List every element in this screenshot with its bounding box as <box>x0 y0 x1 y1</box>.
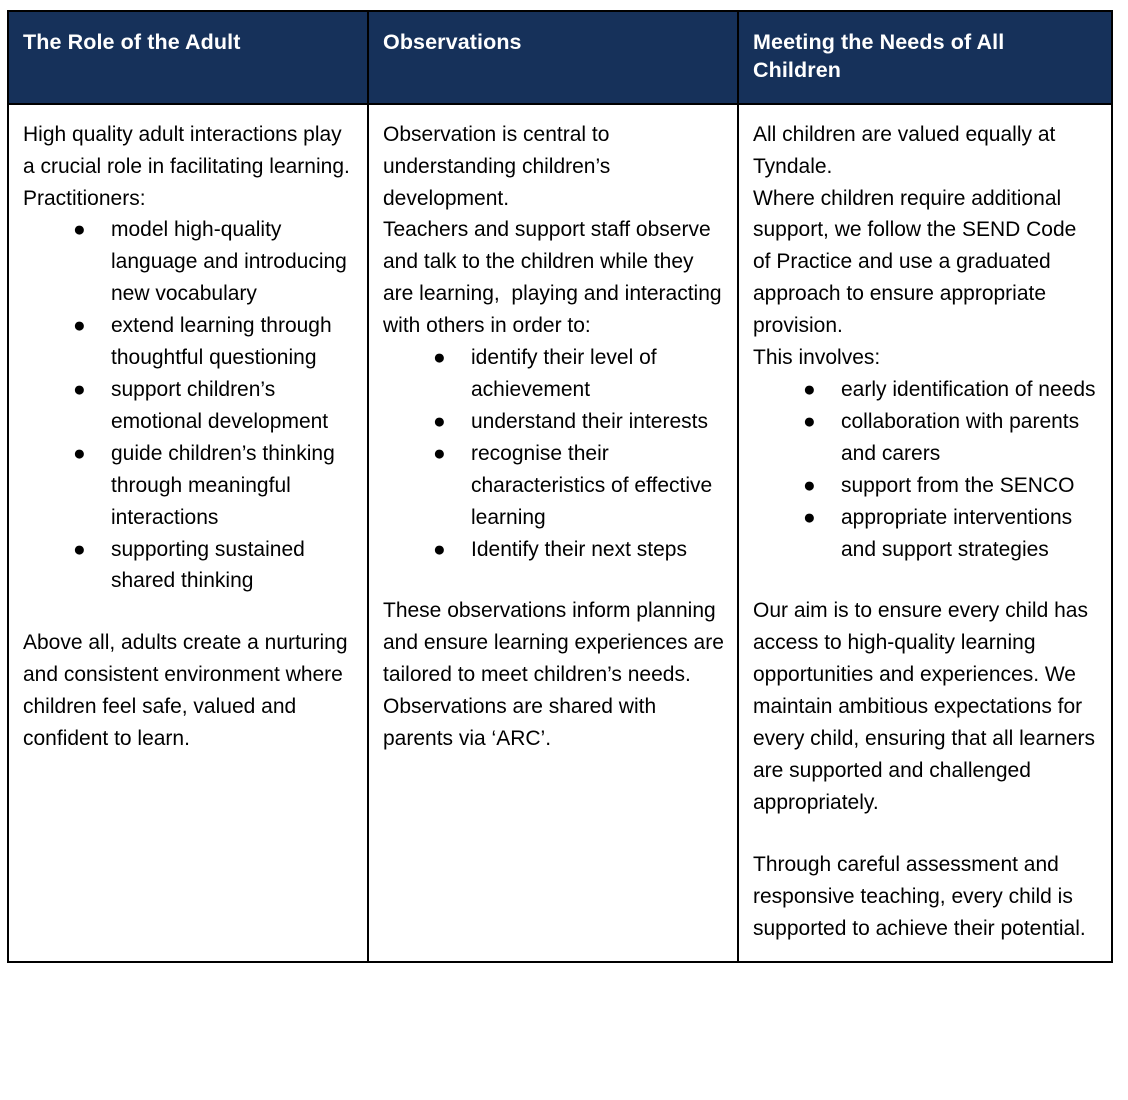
column-header-role-of-the-adult: The Role of the Adult <box>8 11 368 104</box>
list-item: ●recognise their characteristics of effe… <box>383 438 725 534</box>
list-item-label: extend learning through thoughtful quest… <box>111 314 332 369</box>
list-item-label: understand their interests <box>471 410 708 433</box>
cell-meeting-the-needs: All children are valued equally at Tynda… <box>738 104 1112 962</box>
bullet-dot-icon: ● <box>73 374 85 406</box>
paragraph-spacer <box>753 819 1099 849</box>
bullet-dot-icon: ● <box>73 214 85 246</box>
outro-paragraph-col1: Above all, adults create a nurturing and… <box>23 627 355 755</box>
list-item-label: recognise their characteristics of effec… <box>471 442 712 529</box>
list-item: ●understand their interests <box>383 406 725 438</box>
bullet-dot-icon: ● <box>73 534 85 566</box>
outro-paragraph-col3: Our aim is to ensure every child has acc… <box>753 595 1099 818</box>
cell-observations: Observation is central to understanding … <box>368 104 738 962</box>
table-header-row-group: The Role of the Adult Observations Meeti… <box>8 11 1112 104</box>
list-item: ●model high-quality language and introdu… <box>23 214 355 310</box>
intro-paragraph-col2: Observation is central to understanding … <box>383 119 725 342</box>
list-item: ●support children’s emotional developmen… <box>23 374 355 438</box>
column-header-observations: Observations <box>368 11 738 104</box>
column-header-meeting-the-needs: Meeting the Needs of All Children <box>738 11 1112 104</box>
list-item: ●guide children’s thinking through meani… <box>23 438 355 534</box>
bullet-dot-icon: ● <box>433 342 445 374</box>
list-item-label: identify their level of achievement <box>471 346 657 401</box>
bullet-list-col3: ●early identification of needs ●collabor… <box>753 374 1099 565</box>
list-item: ●collaboration with parents and carers <box>753 406 1099 470</box>
bullet-dot-icon: ● <box>433 534 445 566</box>
bullet-dot-icon: ● <box>73 310 85 342</box>
list-item-label: model high-quality language and introduc… <box>111 218 347 305</box>
paragraph-spacer <box>383 565 725 595</box>
list-item: ●extend learning through thoughtful ques… <box>23 310 355 374</box>
table-header-row: The Role of the Adult Observations Meeti… <box>8 11 1112 104</box>
bullet-dot-icon: ● <box>803 502 815 534</box>
bullet-dot-icon: ● <box>433 406 445 438</box>
list-item: ●Identify their next steps <box>383 534 725 566</box>
outro-paragraph-col2: These observations inform planning and e… <box>383 595 725 755</box>
list-item-label: supporting sustained shared thinking <box>111 538 305 593</box>
list-item-label: guide children’s thinking through meanin… <box>111 442 335 529</box>
bullet-list-col1: ●model high-quality language and introdu… <box>23 214 355 597</box>
eyfs-table: The Role of the Adult Observations Meeti… <box>7 10 1113 963</box>
bullet-dot-icon: ● <box>73 438 85 470</box>
list-item-label: collaboration with parents and carers <box>841 410 1079 465</box>
list-item: ●appropriate interventions and support s… <box>753 502 1099 566</box>
list-item: ●support from the SENCO <box>753 470 1099 502</box>
table-row: High quality adult interactions play a c… <box>8 104 1112 962</box>
list-item: ●supporting sustained shared thinking <box>23 534 355 598</box>
list-item: ●identify their level of achievement <box>383 342 725 406</box>
list-item-label: Identify their next steps <box>471 538 687 561</box>
list-item-label: support children’s emotional development <box>111 378 328 433</box>
list-item-label: early identification of needs <box>841 378 1096 401</box>
table-body: High quality adult interactions play a c… <box>8 104 1112 962</box>
intro-paragraph-col3: All children are valued equally at Tynda… <box>753 119 1099 374</box>
bullet-list-col2: ●identify their level of achievement ●un… <box>383 342 725 565</box>
list-item: ●early identification of needs <box>753 374 1099 406</box>
bullet-dot-icon: ● <box>803 374 815 406</box>
outro2-paragraph-col3: Through careful assessment and responsiv… <box>753 849 1099 945</box>
cell-role-of-the-adult: High quality adult interactions play a c… <box>8 104 368 962</box>
list-item-label: appropriate interventions and support st… <box>841 506 1072 561</box>
bullet-dot-icon: ● <box>803 470 815 502</box>
intro-paragraph-col1: High quality adult interactions play a c… <box>23 119 355 215</box>
paragraph-spacer <box>753 565 1099 595</box>
bullet-dot-icon: ● <box>433 438 445 470</box>
eyfs-table-container: The Role of the Adult Observations Meeti… <box>7 10 1111 963</box>
bullet-dot-icon: ● <box>803 406 815 438</box>
paragraph-spacer <box>23 597 355 627</box>
list-item-label: support from the SENCO <box>841 474 1074 497</box>
